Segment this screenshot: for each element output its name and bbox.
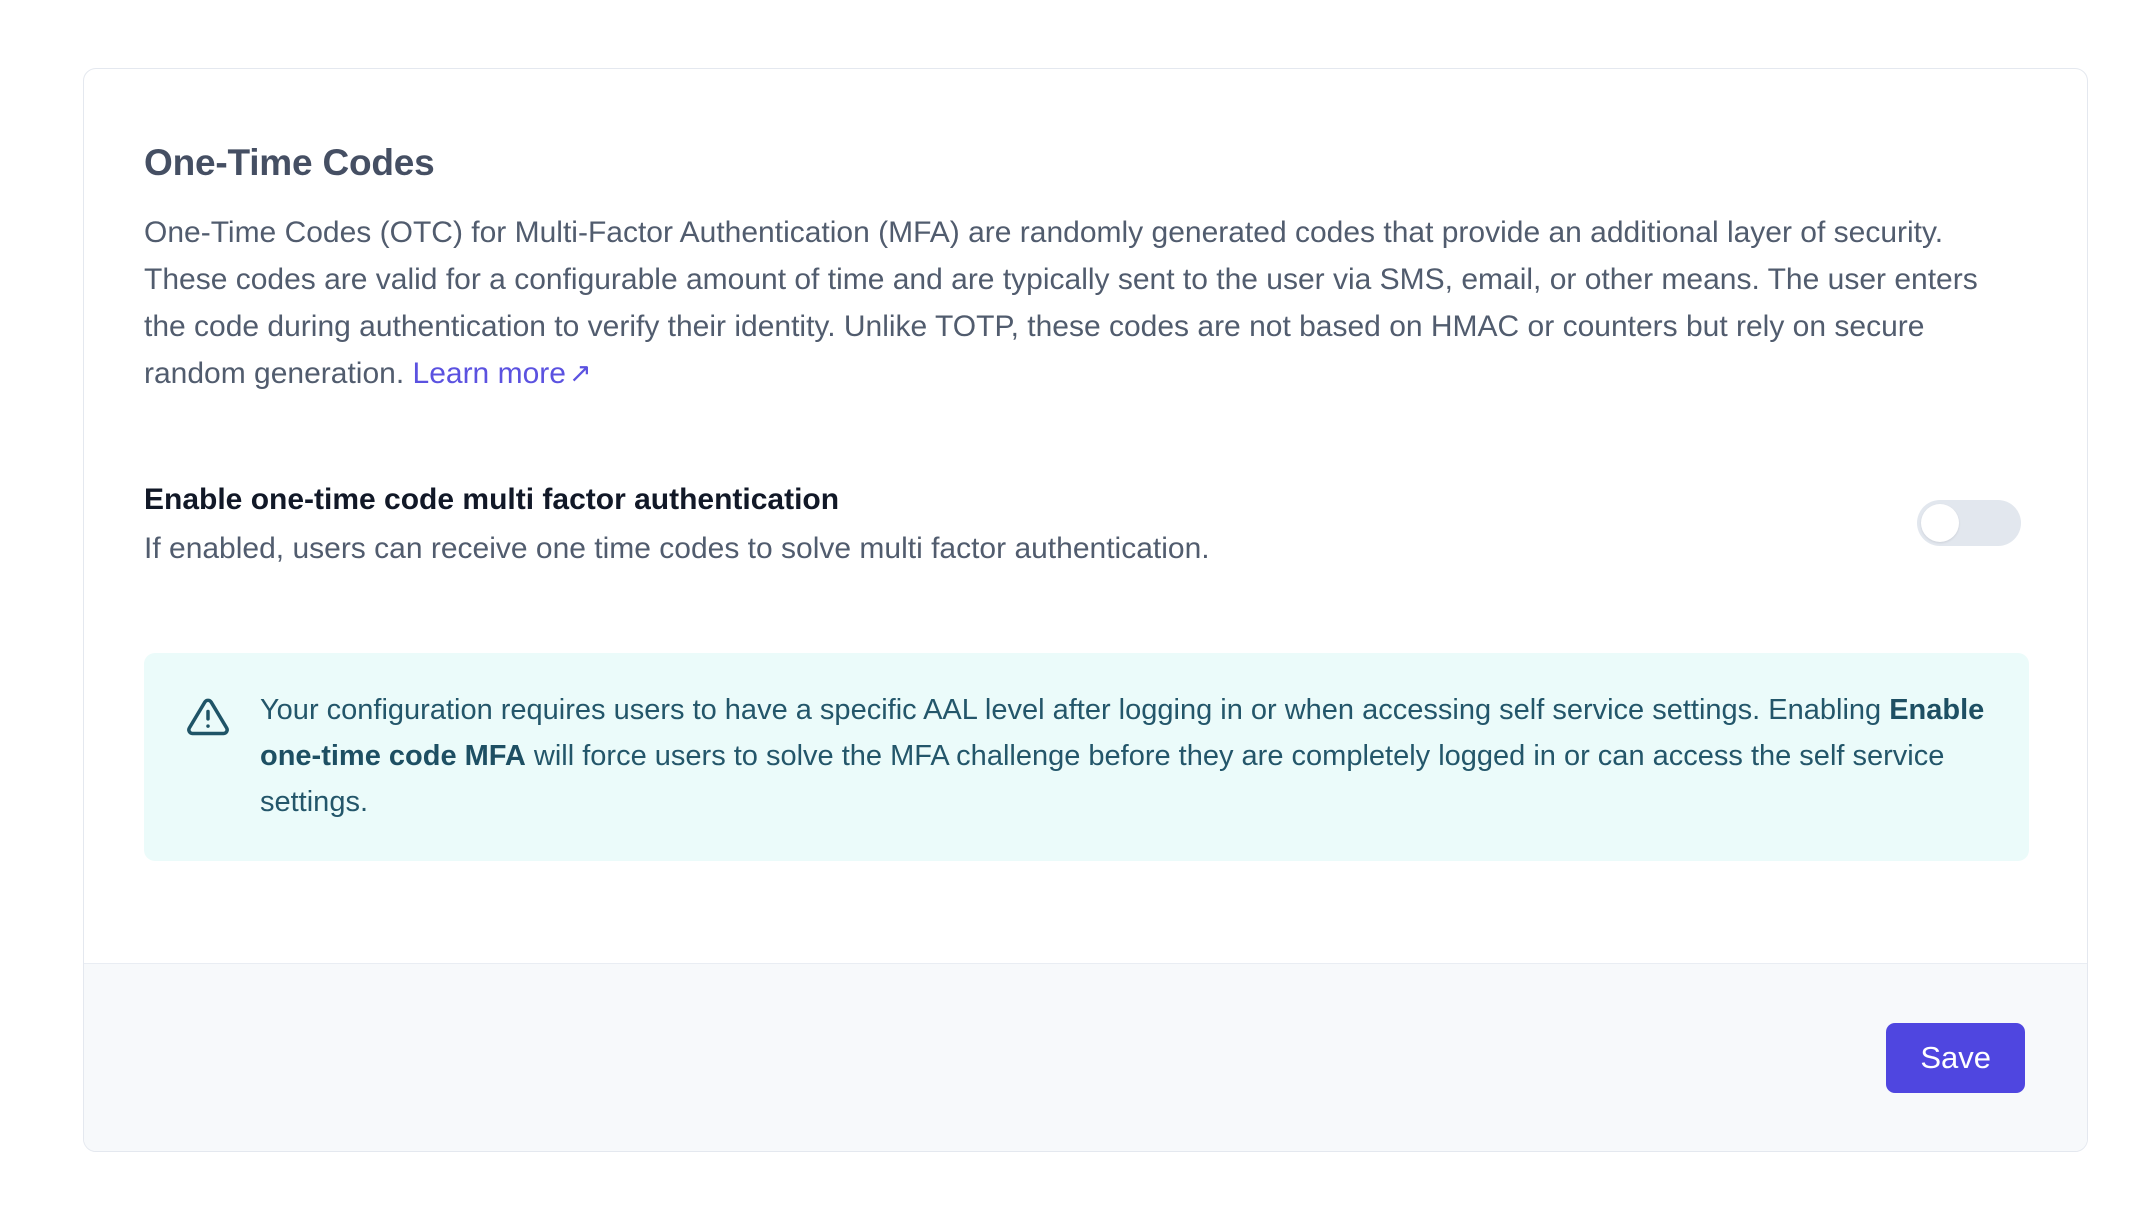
callout-text-part1: Your configuration requires users to hav… [260,694,1889,726]
save-button[interactable]: Save [1886,1023,2025,1093]
card-body: One-Time Codes One-Time Codes (OTC) for … [84,69,2087,861]
toggle-knob [1921,504,1959,542]
learn-more-label: Learn more [413,357,566,390]
toggle-text-group: Enable one-time code multi factor authen… [144,480,1210,569]
warning-triangle-icon [186,695,230,744]
page-root: One-Time Codes One-Time Codes (OTC) for … [0,0,2146,1218]
toggle-help-text: If enabled, users can receive one time c… [144,529,1210,570]
toggle-label: Enable one-time code multi factor authen… [144,480,1210,521]
section-description: One-Time Codes (OTC) for Multi-Factor Au… [144,209,1999,398]
external-link-arrow-icon: ↗ [569,350,592,397]
page-title: One-Time Codes [144,141,2027,185]
enable-otc-mfa-toggle[interactable] [1917,500,2021,546]
enable-otc-mfa-row: Enable one-time code multi factor authen… [144,480,2027,569]
learn-more-link[interactable]: Learn more↗ [413,357,592,390]
aal-warning-callout: Your configuration requires users to hav… [144,653,2029,861]
one-time-codes-card: One-Time Codes One-Time Codes (OTC) for … [83,68,2088,1152]
callout-text: Your configuration requires users to hav… [260,687,1991,825]
card-footer: Save [84,963,2087,1151]
